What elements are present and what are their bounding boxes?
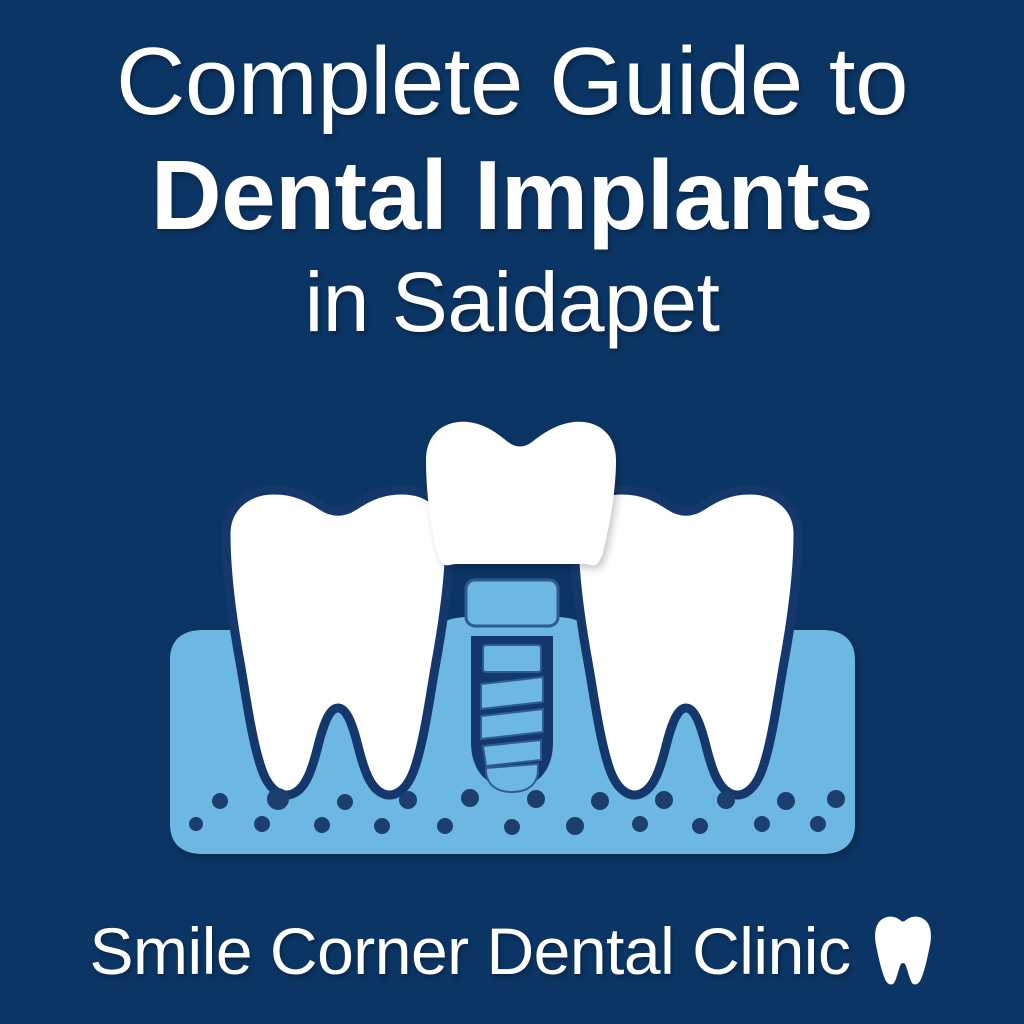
footer-block: Smile Corner Dental Clinic xyxy=(0,896,1024,1006)
clinic-name: Smile Corner Dental Clinic xyxy=(90,913,851,989)
dental-implant-svg xyxy=(0,412,1024,872)
title-line-1: Complete Guide to xyxy=(116,34,908,130)
implant-abutment xyxy=(466,580,558,626)
title-line-2: Dental Implants xyxy=(151,146,873,244)
implant-screw xyxy=(471,636,553,792)
poster-canvas: Complete Guide to Dental Implants in Sai… xyxy=(0,0,1024,1024)
headline-block: Complete Guide to Dental Implants in Sai… xyxy=(0,0,1024,420)
title-line-3: in Saidapet xyxy=(305,260,720,344)
implant-crown xyxy=(426,422,616,565)
tooth-icon xyxy=(872,914,934,988)
implant-thread-bands xyxy=(481,645,543,792)
dental-implant-illustration xyxy=(0,412,1024,872)
